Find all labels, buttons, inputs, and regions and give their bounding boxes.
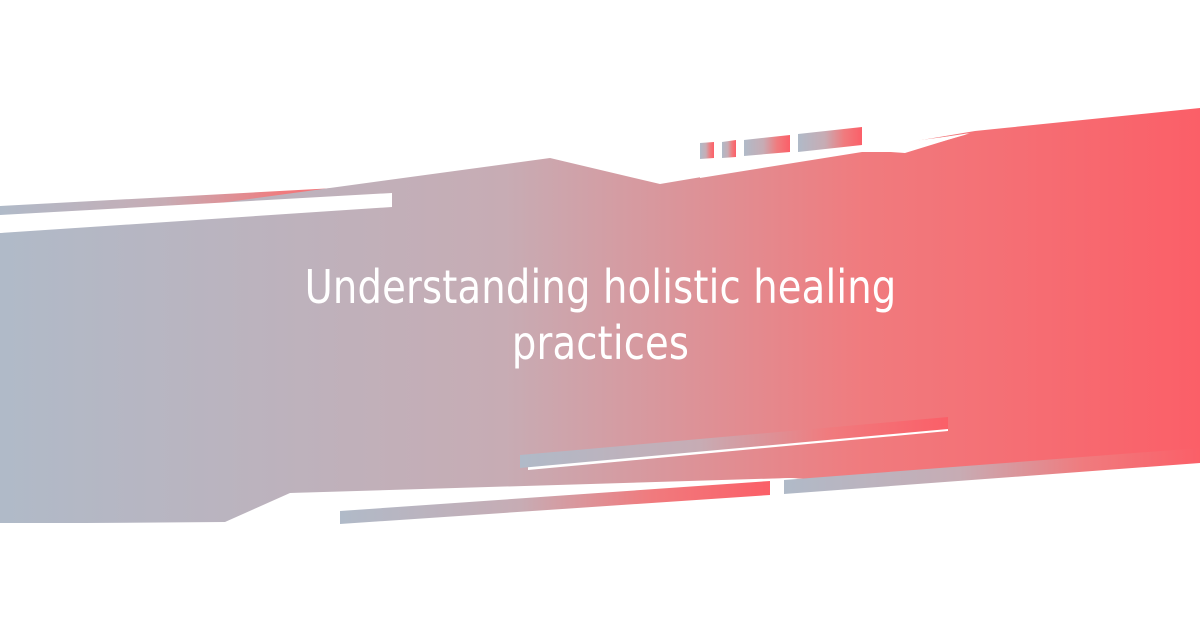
dash-mark-2	[722, 140, 736, 158]
dash-mark-3	[744, 135, 790, 156]
banner-card: Understanding holistic healing practices	[0, 0, 1200, 630]
dash-mark-1	[700, 142, 714, 159]
dash-mark-4	[798, 127, 862, 152]
banner-graphic	[0, 0, 1200, 630]
